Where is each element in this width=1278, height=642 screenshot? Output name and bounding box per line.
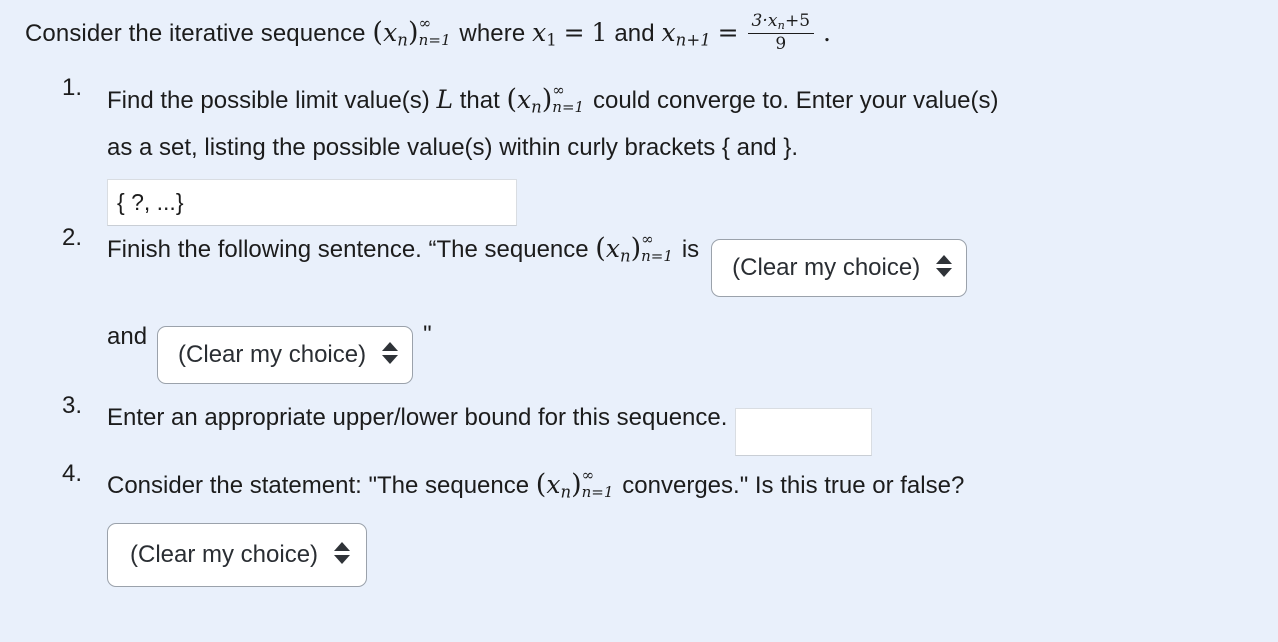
limit-L-symbol: L (436, 85, 453, 114)
sequence-superscript: ∞ (582, 468, 595, 483)
sentence-select-2-label: (Clear my choice) (178, 327, 366, 382)
sequence-lower-limit: n=1 (552, 100, 584, 115)
question-3-text: Enter an appropriate upper/lower bound f… (107, 394, 1278, 456)
statement-lead-text: Consider the iterative sequence (25, 20, 366, 47)
sequence-superscript: ∞ (419, 16, 432, 31)
q2-and-label: and (107, 323, 147, 350)
equals-sign-2: = (718, 18, 739, 47)
equals-sign-1: = (564, 18, 585, 47)
fraction-numerator-tail: +5 (785, 11, 810, 31)
sequence-notation: (xn)∞n=1 (595, 235, 675, 265)
sequence-subscript: n (620, 247, 631, 266)
question-marker-3: 3. (62, 394, 100, 418)
q4-text-part2: converges." Is this true or false? (622, 472, 964, 499)
question-4-text: Consider the statement: "The sequence (x… (107, 462, 1278, 509)
limit-set-input[interactable] (107, 179, 517, 226)
fraction-numerator-subscript: n (778, 19, 785, 32)
question-marker-1: 1. (62, 76, 100, 100)
xnext-term: xn+1 (661, 18, 710, 47)
sentence-select-2[interactable]: (Clear my choice) (157, 326, 413, 384)
xnext-variable: x (661, 18, 675, 47)
updown-arrows-icon (382, 341, 398, 367)
sequence-subscript: n (560, 483, 571, 502)
question-list: 1. Find the possible limit value(s) L th… (62, 76, 1278, 592)
xnext-subscript: n+1 (676, 30, 711, 49)
sentence-select-1-label: (Clear my choice) (732, 240, 920, 295)
question-1-text: Find the possible limit value(s) L that … (107, 76, 1278, 171)
sequence-notation: (xn)∞n=1 (506, 86, 586, 116)
statement-period: . (823, 18, 831, 47)
sequence-lower-limit: n=1 (641, 249, 673, 264)
recurrence-fraction: 3·xn+5 9 (748, 12, 815, 54)
sequence-notation: (xn)∞n=1 (372, 19, 452, 49)
question-4-select-row: (Clear my choice) (107, 523, 1278, 587)
q2-text-part2: is (682, 236, 699, 263)
x1-subscript: 1 (546, 30, 557, 49)
question-marker-2: 2. (62, 226, 100, 250)
question-item-3: 3. Enter an appropriate upper/lower boun… (107, 394, 1278, 462)
sequence-lower-limit: n=1 (582, 485, 614, 500)
problem-statement: Consider the iterative sequence (xn)∞n=1… (25, 12, 831, 54)
statement-and-text: and (614, 20, 654, 47)
sequence-subscript: n (397, 30, 408, 49)
updown-arrows-icon (936, 254, 952, 280)
fraction-numerator: 3·xn+5 (748, 12, 815, 33)
q1-text-part1: Find the possible limit value(s) (107, 87, 430, 114)
q1-text-part2: that (460, 87, 500, 114)
q4-text-part1: Consider the statement: "The sequence (107, 472, 529, 499)
true-false-select-label: (Clear my choice) (130, 524, 318, 585)
x1-variable: x (532, 18, 546, 47)
x1-value: 1 (592, 18, 608, 47)
question-item-4: 4. Consider the statement: "The sequence… (107, 462, 1278, 592)
sequence-variable: x (546, 470, 560, 499)
question-2-text: Finish the following sentence. “The sequ… (107, 226, 1278, 297)
sequence-lower-limit: n=1 (419, 33, 451, 48)
x1-term: x1 (532, 18, 557, 47)
question-item-2: 2. Finish the following sentence. “The s… (107, 226, 1278, 394)
sequence-notation: (xn)∞n=1 (536, 471, 616, 501)
fraction-denominator: 9 (748, 33, 815, 53)
bound-input[interactable] (735, 408, 872, 456)
updown-arrows-icon (334, 541, 350, 567)
sequence-subscript: n (531, 98, 542, 117)
question-2-second-row: and(Clear my choice)" (107, 323, 1278, 384)
quiz-page: Consider the iterative sequence (xn)∞n=1… (0, 0, 1278, 642)
sequence-variable: x (383, 18, 397, 47)
sequence-variable: x (517, 85, 531, 114)
q3-text-part1: Enter an appropriate upper/lower bound f… (107, 404, 727, 431)
q2-text-part1: Finish the following sentence. “The sequ… (107, 236, 589, 263)
sentence-select-1[interactable]: (Clear my choice) (711, 239, 967, 297)
fraction-numerator-lead: 3·x (752, 11, 778, 31)
sequence-variable: x (606, 234, 620, 263)
question-item-1: 1. Find the possible limit value(s) L th… (107, 76, 1278, 226)
q2-closing-quote: " (423, 321, 432, 348)
q1-text-part3: could converge to. Enter your value(s) (593, 87, 999, 114)
statement-where-text: where (459, 20, 525, 47)
question-marker-4: 4. (62, 462, 100, 486)
sequence-superscript: ∞ (641, 232, 654, 247)
sequence-superscript: ∞ (552, 83, 565, 98)
q1-text-line2: as a set, listing the possible value(s) … (107, 134, 798, 161)
true-false-select[interactable]: (Clear my choice) (107, 523, 367, 587)
